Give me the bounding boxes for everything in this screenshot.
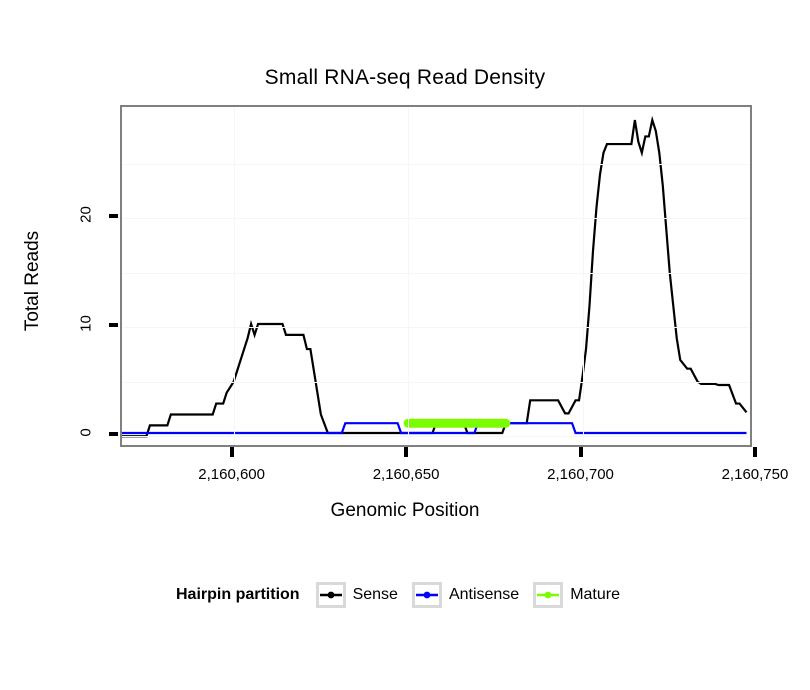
y-tick-label: 0 [78,413,95,453]
x-tick-mark [753,447,757,457]
y-tick-mark [109,432,118,436]
legend-key-swatch [316,582,346,608]
x-tick-label: 2,160,600 [172,466,292,483]
y-tick-label: 10 [78,304,95,344]
x-tick-label: 2,160,750 [695,466,810,483]
legend-key-swatch [533,582,563,608]
legend-item-antisense[interactable]: Antisense [412,582,519,608]
legend-label: Sense [353,586,398,604]
plot-panel [120,105,752,447]
legend: Hairpin partition SenseAntisenseMature [0,582,810,608]
gridline-vertical [408,107,409,445]
chart-figure: Small RNA-seq Read Density Total Reads 0… [0,0,810,690]
y-tick-label: 20 [78,195,95,235]
y-axis-title: Total Reads [22,191,44,371]
x-tick-label: 2,160,650 [346,466,466,483]
chart-title: Small RNA-seq Read Density [0,66,810,90]
gridline-horizontal [122,273,750,274]
gridline-vertical [583,107,584,445]
gridline-horizontal [122,436,750,437]
data-series-layer [122,107,750,445]
x-tick-label: 2,160,700 [521,466,641,483]
x-tick-mark [404,447,408,457]
series-line-sense [122,120,747,436]
legend-title: Hairpin partition [176,586,300,604]
y-tick-mark [109,214,118,218]
gridline-horizontal [122,382,750,383]
gridline-horizontal [122,164,750,165]
gridline-horizontal [122,327,750,328]
gridline-horizontal [122,218,750,219]
legend-key-swatch [412,582,442,608]
x-tick-mark [230,447,234,457]
y-tick-mark [109,323,118,327]
x-tick-mark [579,447,583,457]
legend-label: Mature [570,586,620,604]
gridline-vertical [234,107,235,445]
x-axis-title: Genomic Position [0,500,810,522]
legend-label: Antisense [449,586,519,604]
legend-item-mature[interactable]: Mature [533,582,620,608]
legend-item-sense[interactable]: Sense [316,582,398,608]
